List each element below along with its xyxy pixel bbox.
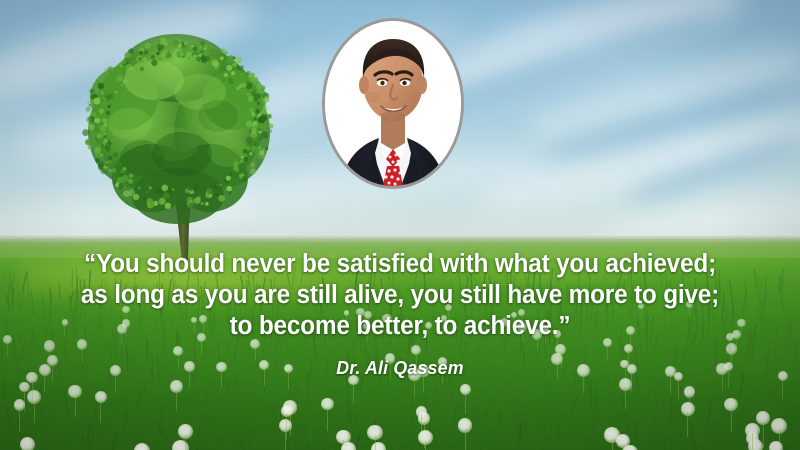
quote-line-1: “You should never be satisfied with what… <box>18 249 782 280</box>
quote-attribution: Dr. Ali Qassem <box>16 357 784 379</box>
quote-line-2: as long as you are still alive, you stil… <box>18 280 782 311</box>
avatar <box>325 21 461 186</box>
tree-icon <box>78 28 278 260</box>
quote-card: “You should never be satisfied with what… <box>0 0 800 450</box>
quote-text: “You should never be satisfied with what… <box>0 249 800 342</box>
portrait-photo <box>325 21 461 186</box>
quote-line-3: to become better, to achieve.” <box>18 311 782 342</box>
